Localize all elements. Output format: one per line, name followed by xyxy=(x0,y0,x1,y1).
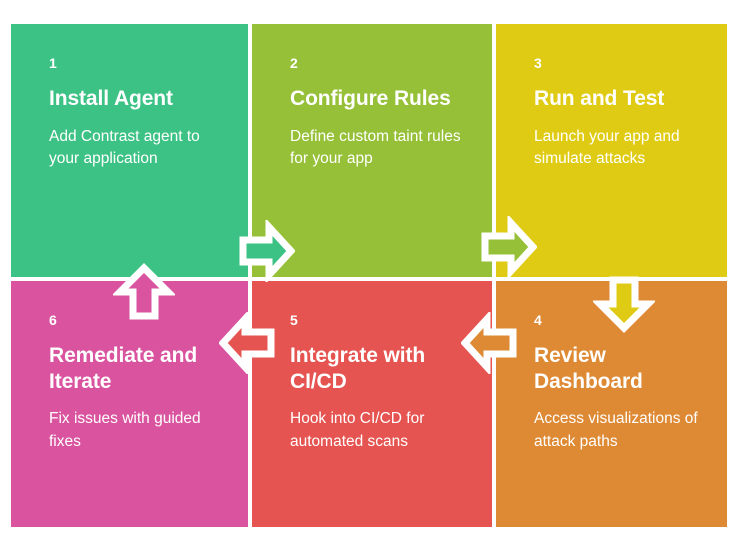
step-title: Review Dashboard xyxy=(534,343,705,394)
step-description: Access visualizations of attack paths xyxy=(534,408,702,453)
step-title: Integrate with CI/CD xyxy=(290,343,470,394)
step-description: Define custom taint rules for your app xyxy=(290,126,470,171)
step-title: Install Agent xyxy=(49,86,226,112)
step-number: 6 xyxy=(49,313,226,327)
step-description: Fix issues with guided fixes xyxy=(49,408,225,453)
step-number: 5 xyxy=(290,313,470,327)
step-number: 2 xyxy=(290,56,470,70)
step-description: Hook into CI/CD for automated scans xyxy=(290,408,470,453)
process-step-1[interactable]: 1 Install Agent Add Contrast agent to yo… xyxy=(11,24,248,277)
step-description: Add Contrast agent to your application xyxy=(49,126,225,171)
step-number: 4 xyxy=(534,313,705,327)
step-title: Remediate and Iterate xyxy=(49,343,226,394)
process-step-4[interactable]: 4 Review Dashboard Access visualizations… xyxy=(496,281,727,527)
step-number: 1 xyxy=(49,56,226,70)
process-step-3[interactable]: 3 Run and Test Launch your app and simul… xyxy=(496,24,727,277)
process-flow-diagram: 1 Install Agent Add Contrast agent to yo… xyxy=(11,24,727,527)
process-step-6[interactable]: 6 Remediate and Iterate Fix issues with … xyxy=(11,281,248,527)
step-title: Configure Rules xyxy=(290,86,470,112)
step-description: Launch your app and simulate attacks xyxy=(534,126,702,171)
step-title: Run and Test xyxy=(534,86,705,112)
step-number: 3 xyxy=(534,56,705,70)
process-step-2[interactable]: 2 Configure Rules Define custom taint ru… xyxy=(252,24,492,277)
process-step-5[interactable]: 5 Integrate with CI/CD Hook into CI/CD f… xyxy=(252,281,492,527)
